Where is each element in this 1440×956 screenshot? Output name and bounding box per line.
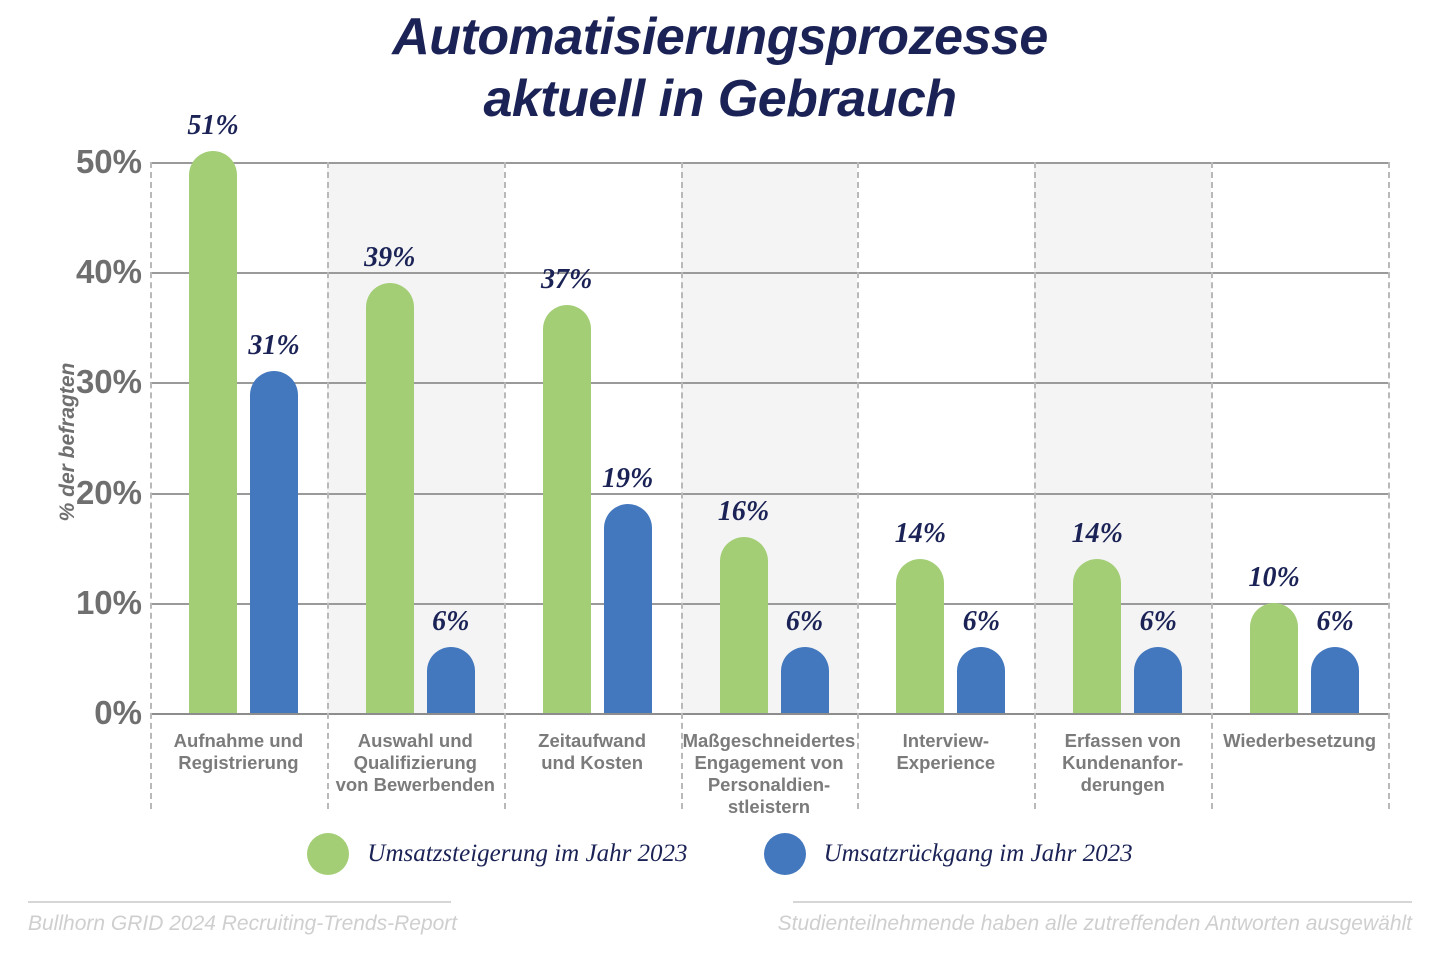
bar-blue[interactable] <box>250 371 298 713</box>
bar-blue[interactable] <box>604 504 652 713</box>
legend-swatch-icon <box>764 833 806 875</box>
x-axis-category-label: Interview- Experience <box>857 730 1034 774</box>
legend-item[interactable]: Umsatzrückgang im Jahr 2023 <box>764 833 1133 875</box>
bar-value-label: 39% <box>330 244 450 272</box>
bar-blue[interactable] <box>1311 647 1359 713</box>
legend-swatch-icon <box>307 833 349 875</box>
legend-label: Umsatzrückgang im Jahr 2023 <box>824 840 1133 868</box>
x-axis-category-label: Maßgeschneidertes Engagement von Persona… <box>681 730 858 818</box>
bar-value-label: 6% <box>391 608 511 636</box>
category-band <box>504 162 681 713</box>
bar-value-label: 14% <box>1037 520 1157 548</box>
category-separator <box>857 162 859 809</box>
legend-item[interactable]: Umsatzsteigerung im Jahr 2023 <box>307 833 687 875</box>
bar-value-label: 31% <box>214 332 334 360</box>
bar-value-label: 51% <box>153 112 273 140</box>
y-axis-title: % der befragten <box>56 312 80 572</box>
bar-green[interactable] <box>189 151 237 713</box>
plot-area: 51%31%39%6%37%19%16%6%14%6%14%6%10%6% <box>150 162 1388 713</box>
bar-blue[interactable] <box>957 647 1005 713</box>
gridline <box>150 382 1388 384</box>
x-axis-category-label: Aufnahme und Registrierung <box>150 730 327 774</box>
bar-blue[interactable] <box>1134 647 1182 713</box>
y-axis-tick-label: 10% <box>0 586 142 619</box>
footer-divider-right <box>793 901 1412 903</box>
footer-divider-left <box>28 901 451 903</box>
bar-value-label: 6% <box>745 608 865 636</box>
footer-method-note: Studienteilnehmende haben alle zutreffen… <box>778 912 1412 936</box>
category-separator <box>1211 162 1213 809</box>
category-separator <box>327 162 329 809</box>
bar-value-label: 6% <box>921 608 1041 636</box>
bar-value-label: 19% <box>568 465 688 493</box>
legend-label: Umsatzsteigerung im Jahr 2023 <box>367 840 687 868</box>
bar-green[interactable] <box>366 283 414 713</box>
bar-value-label: 10% <box>1214 564 1334 592</box>
bar-blue[interactable] <box>427 647 475 713</box>
gridline <box>150 603 1388 605</box>
bar-value-label: 6% <box>1098 608 1218 636</box>
bar-value-label: 37% <box>507 266 627 294</box>
y-axis-tick-label: 50% <box>0 145 142 178</box>
y-axis-tick-label: 40% <box>0 255 142 288</box>
x-axis-category-label: Auswahl und Qualifizierung von Bewerbend… <box>327 730 504 796</box>
bar-green[interactable] <box>543 305 591 713</box>
category-band <box>150 162 327 713</box>
bar-blue[interactable] <box>781 647 829 713</box>
chart-legend: Umsatzsteigerung im Jahr 2023Umsatzrückg… <box>0 833 1440 875</box>
bar-value-label: 14% <box>860 520 980 548</box>
category-separator <box>1388 162 1390 809</box>
axis-baseline <box>150 713 1388 715</box>
x-axis-category-label: Zeitaufwand und Kosten <box>504 730 681 774</box>
bar-value-label: 6% <box>1275 608 1395 636</box>
category-separator <box>681 162 683 809</box>
gridline <box>150 162 1388 164</box>
y-axis-tick-label: 20% <box>0 476 142 509</box>
bar-value-label: 16% <box>684 498 804 526</box>
x-axis-category-label: Wiederbesetzung <box>1211 730 1388 752</box>
gridline <box>150 272 1388 274</box>
category-separator <box>150 162 152 809</box>
category-separator <box>1034 162 1036 809</box>
footer-source-note: Bullhorn GRID 2024 Recruiting-Trends-Rep… <box>28 912 457 936</box>
y-axis-tick-label: 30% <box>0 365 142 398</box>
gridline <box>150 493 1388 495</box>
y-axis-tick-label: 0% <box>0 696 142 729</box>
category-separator <box>504 162 506 809</box>
x-axis-category-label: Erfassen von Kundenanfor- derungen <box>1034 730 1211 796</box>
